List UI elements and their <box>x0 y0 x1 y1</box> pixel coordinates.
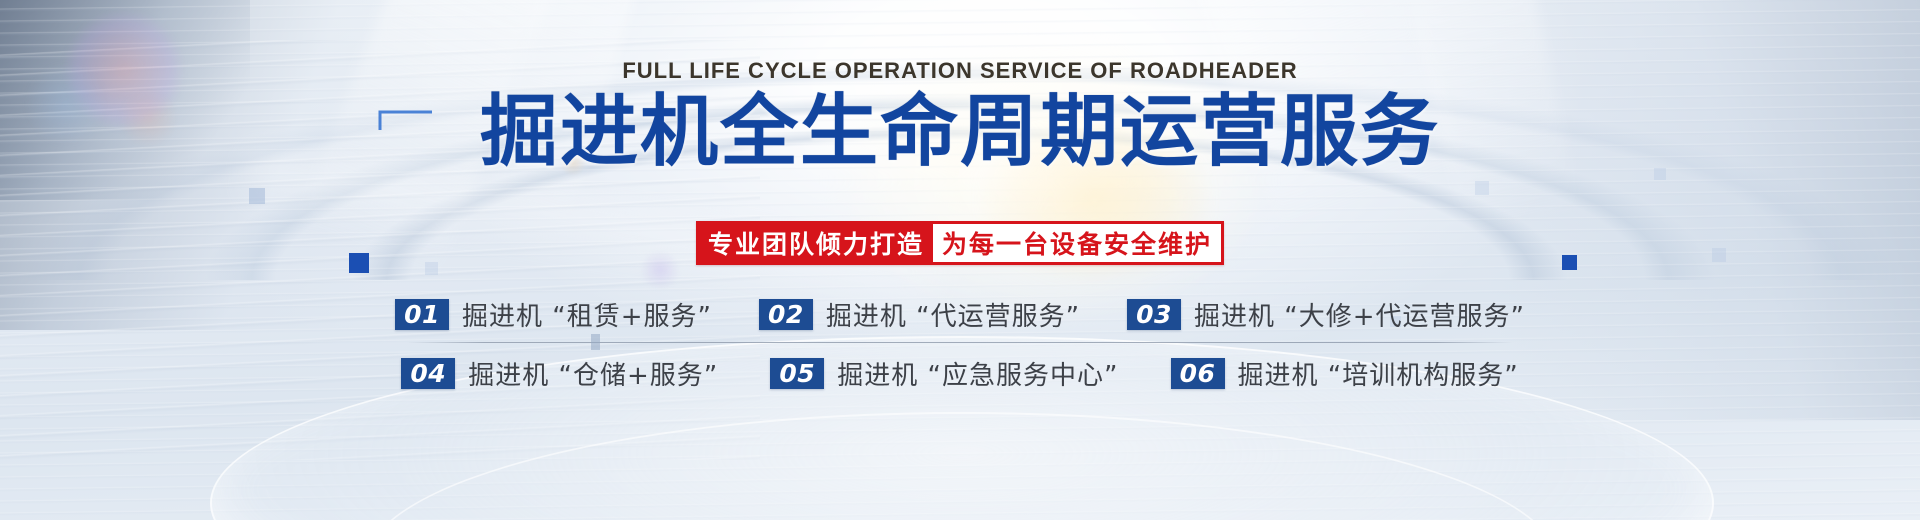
service-number-badge: 02 <box>759 299 813 330</box>
service-item-02[interactable]: 02 掘进机 “代运营服务” <box>759 296 1080 333</box>
main-headline: 掘进机全生命周期运营服务 <box>0 86 1920 178</box>
service-label: 掘进机 “租赁+服务” <box>462 296 712 333</box>
service-number-badge: 01 <box>395 299 449 330</box>
service-number-badge: 06 <box>1171 358 1225 389</box>
service-item-06[interactable]: 06 掘进机 “培训机构服务” <box>1171 355 1519 392</box>
subtitle-hollow-segment: 为每一台设备安全维护 <box>933 224 1221 262</box>
service-row-top: 01 掘进机 “租赁+服务” 02 掘进机 “代运营服务” 03 掘进机 “大修… <box>395 288 1525 340</box>
service-item-01[interactable]: 01 掘进机 “租赁+服务” <box>395 296 712 333</box>
banner-content: FULL LIFE CYCLE OPERATION SERVICE OF ROA… <box>0 0 1920 520</box>
service-number-badge: 03 <box>1127 299 1181 330</box>
service-label: 掘进机 “培训机构服务” <box>1238 355 1519 392</box>
service-number-badge: 05 <box>770 358 824 389</box>
service-number-badge: 04 <box>401 358 455 389</box>
service-item-03[interactable]: 03 掘进机 “大修+代运营服务” <box>1127 296 1525 333</box>
roadheader-service-banner: FULL LIFE CYCLE OPERATION SERVICE OF ROA… <box>0 0 1920 520</box>
subtitle-bar: 专业团队倾力打造 为每一台设备安全维护 <box>696 221 1224 265</box>
service-label: 掘进机 “大修+代运营服务” <box>1194 296 1525 333</box>
service-list: 01 掘进机 “租赁+服务” 02 掘进机 “代运营服务” 03 掘进机 “大修… <box>395 288 1525 399</box>
divider-tick-mark <box>591 334 600 350</box>
service-item-04[interactable]: 04 掘进机 “仓储+服务” <box>401 355 718 392</box>
service-item-05[interactable]: 05 掘进机 “应急服务中心” <box>770 355 1118 392</box>
service-label: 掘进机 “仓储+服务” <box>468 355 718 392</box>
subtitle-bar-wrapper: 专业团队倾力打造 为每一台设备安全维护 <box>0 221 1920 265</box>
eyebrow-english-tagline: FULL LIFE CYCLE OPERATION SERVICE OF ROA… <box>0 58 1920 84</box>
service-label: 掘进机 “代运营服务” <box>826 296 1080 333</box>
service-row-bottom: 04 掘进机 “仓储+服务” 05 掘进机 “应急服务中心” 06 掘进机 “培… <box>395 347 1525 399</box>
subtitle-solid-segment: 专业团队倾力打造 <box>699 224 933 262</box>
service-row-divider <box>407 342 1513 343</box>
service-label: 掘进机 “应急服务中心” <box>837 355 1118 392</box>
